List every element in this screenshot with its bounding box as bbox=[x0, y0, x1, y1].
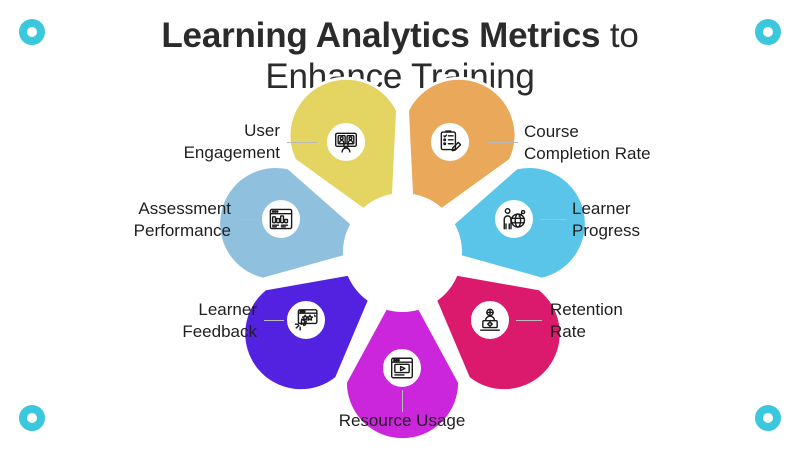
page-title: Learning Analytics Metrics to Enhance Tr… bbox=[0, 16, 800, 97]
corner-ring-bottom-left bbox=[19, 405, 45, 431]
title-strong: Learning Analytics Metrics bbox=[161, 16, 600, 55]
corner-ring-bottom-right bbox=[755, 405, 781, 431]
label-course-completion-rate: Course Completion Rate bbox=[524, 121, 714, 165]
label-user-engagement: User Engagement bbox=[105, 120, 280, 164]
dashboard-chart-icon bbox=[268, 206, 294, 232]
badge-retention-rate[interactable] bbox=[468, 298, 512, 342]
badge-learner-progress[interactable] bbox=[492, 197, 536, 241]
video-player-window-icon bbox=[389, 355, 415, 381]
label-retention-rate: Retention Rate bbox=[550, 299, 720, 343]
title-light: to bbox=[600, 16, 638, 55]
leader-line-learner-progress bbox=[540, 219, 566, 220]
title-line-1: Learning Analytics Metrics to bbox=[0, 16, 800, 57]
badge-learner-feedback[interactable] bbox=[284, 298, 328, 342]
badge-assessment-performance[interactable] bbox=[259, 197, 303, 241]
person-laptop-icon bbox=[477, 307, 503, 333]
badge-resource-usage[interactable] bbox=[380, 346, 424, 390]
star-rating-click-icon bbox=[293, 307, 319, 333]
person-globe-icon bbox=[501, 206, 527, 232]
leader-line-retention-rate bbox=[516, 320, 542, 321]
label-learner-progress: Learner Progress bbox=[572, 198, 742, 242]
leader-line-resource-usage bbox=[402, 388, 403, 412]
video-presentation-icon bbox=[333, 129, 359, 155]
label-learner-feedback: Learner Feedback bbox=[78, 299, 257, 343]
leader-line-course-completion-rate bbox=[488, 142, 518, 143]
checklist-pencil-icon bbox=[437, 129, 463, 155]
label-resource-usage: Resource Usage bbox=[302, 410, 502, 432]
badge-user-engagement[interactable] bbox=[324, 120, 368, 164]
infographic-canvas: Learning Analytics Metrics to Enhance Tr… bbox=[0, 0, 800, 450]
label-assessment-performance: Assessment Performance bbox=[48, 198, 231, 242]
leader-line-user-engagement bbox=[287, 142, 317, 143]
badge-course-completion-rate[interactable] bbox=[428, 120, 472, 164]
title-line-2: Enhance Training bbox=[0, 57, 800, 98]
